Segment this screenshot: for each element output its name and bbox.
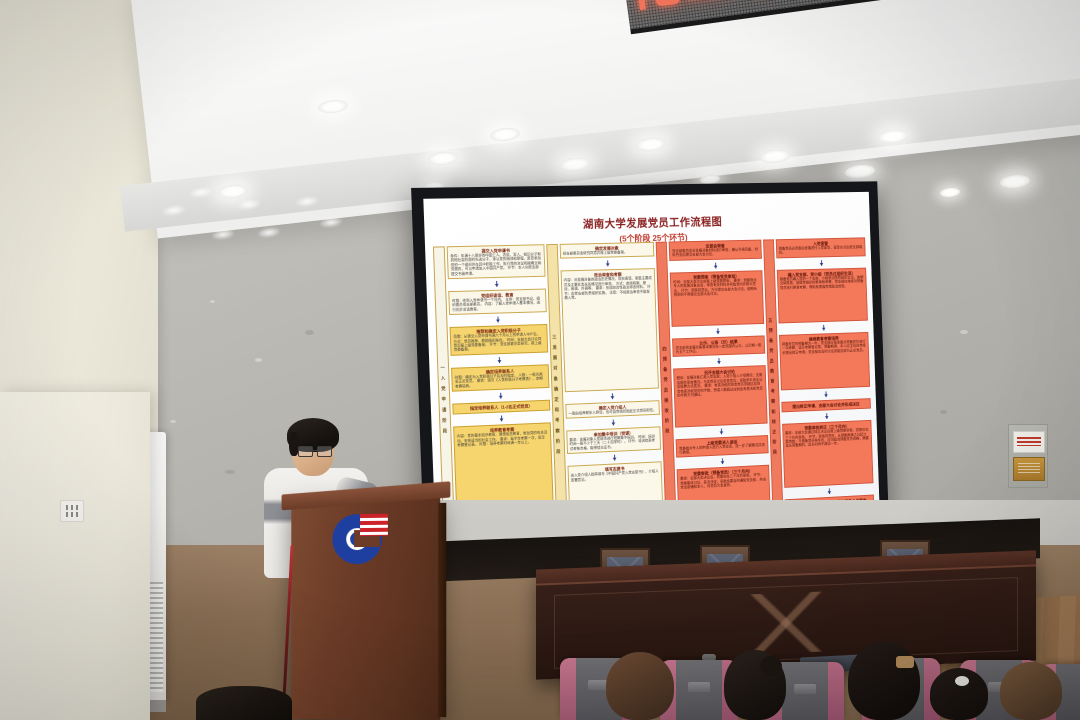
flowchart-column-4: 入党宣誓 预备党员必须面向党旗进行入党宣誓，宣誓仪式由党支部组织。 编入党支部、… [775, 237, 875, 531]
flow-box: 确定培养联系人 时限：确定为入党积极分子后及时指定。 人数：一般为两名正式党员。… [451, 364, 549, 392]
flow-box: 上级党委派人谈话 党委指派专人同申请人进行入党谈话，进一步了解情况并进行教育。 [676, 435, 769, 458]
flow-box: 确定入党介绍人 一般由培养联系人担任，也可由党组织指定正式党员担任。 [565, 400, 660, 419]
flow-box: 党委审批转正（三个月内） 要求：支部大会通过转正决议后报上级党委审批。党委应在三… [782, 420, 874, 488]
lecture-hall-photo: 化工学院2022级 湖南大学发展党员工作流程图 (5个阶段 25个环节) 一 入… [0, 0, 1080, 720]
flow-arrow [452, 391, 549, 401]
flow-box: 确定发展对象 经支部委员会研究同意并报上级党委备案。 [559, 242, 654, 259]
flow-box: 继续教育考察培养 预备党员的预备期为一年。党支部应每季度对预备党员进行一次考察，… [779, 332, 871, 391]
flow-arrow [449, 315, 546, 324]
plaque-upper-panel [1013, 431, 1045, 453]
flow-arrow [669, 261, 761, 269]
hair-bun [760, 656, 782, 676]
flow-box-body: 党支部委员会对发展对象材料进行审查，确认手续完备、材料齐全后提交支部大会讨论。 [672, 247, 758, 257]
flow-box: 召开支部大会讨论 程序：发展对象汇报入党志愿；入党介绍人介绍情况；支委会报告审查… [673, 366, 767, 428]
flow-box-body: 预备党员必须面向党旗进行入党宣誓，宣誓仪式由党支部组织。 [779, 245, 863, 255]
flow-box-body: 要求：发展对象入党前须进行短期集中培训。 时间：培训时间一般不少于三天（二十四学… [569, 434, 657, 451]
flow-box-title: 提出转正申请、支部大会讨论并形成决议 [784, 401, 868, 409]
flow-box-body: 要求：支部大会通过转正决议后报上级党委审批。党委应在三个月内审批。 环节：审批同… [785, 428, 869, 449]
flow-arrow [781, 390, 871, 399]
eyeglasses [298, 446, 331, 456]
hair-tie [955, 676, 969, 686]
flow-arrow [560, 260, 655, 268]
flowchart-column-2: 确定发展对象 经支部委员会研究同意并报上级党委备案。 政治审查和考察 内容：对发… [559, 242, 664, 544]
flow-box: 党委预审（预备党员审批） 时间：支部大会讨论前报上级党委预审。 要求：党委指派专… [670, 270, 764, 326]
cream-wall-lower [0, 392, 150, 720]
plaque-lower-panel [1013, 457, 1045, 481]
flow-box-body: 要求：支部大会决议后，党委应在三个月内审批。 环节：党委集体讨论、表决决定；审批… [680, 473, 766, 490]
flow-arrow [776, 259, 866, 267]
flowchart-column-3: 支部会审查 党支部委员会对发展对象材料进行审查，确认手续完备、材料齐全后提交支部… [669, 240, 771, 538]
flow-box: 推荐和确定入党积极分子 范围：从提交入党申请书满六个月以上的申请人中产生。 方式… [450, 324, 548, 356]
flow-box: 支部会审查 党支部委员会对发展对象材料进行审查，确认手续完备、材料齐全后提交支部… [669, 240, 762, 261]
flow-box-body: 预备党员编入党的一个支部、小组参加党的组织生活，按期交纳党费，接受党组织的教育和… [780, 275, 864, 290]
flow-box-body: 条件：年满十八周岁的中国工人、农民、军人、知识分子和其他社会阶层的先进分子，承认… [450, 252, 541, 276]
flow-box-title: 指定培养联系人（1-2名正式党员） [456, 403, 547, 412]
flow-box-body: 经支部委员会研究同意并报上级党委备案。 [563, 250, 651, 256]
flow-box: 提交入党申请书 条件：年满十八周岁的中国工人、农民、军人、知识分子和其他社会阶层… [447, 244, 545, 279]
flow-arrow [673, 357, 765, 366]
flow-arrow [778, 323, 868, 332]
flow-box: 党组织谈话、教育 时限：收到入党申请书一个月内。 主体：党支部书记、组织委员或支… [448, 289, 546, 316]
flow-box-body: 内容：对发展对象的政治历史情况、现实表现、家庭主要成员及主要社会关系情况进行审查… [564, 276, 653, 300]
podium-side-edge [438, 503, 446, 717]
flow-arrow [565, 391, 660, 401]
flow-box: 公示、公告（示）结果 党支部将发展对象基本情况在一定范围内公示，公示期一般为五个… [672, 335, 765, 357]
flow-box: 提出转正申请、支部大会讨论并形成决议 [781, 398, 871, 412]
flow-box: 指定培养联系人（1-2名正式党员） [452, 400, 549, 415]
podium [291, 497, 440, 720]
hunan-university-emblem [332, 510, 388, 567]
flow-box-body: 预备党员的预备期为一年。党支部应每季度对预备党员进行一次考察，填写考察登记表。预… [782, 340, 866, 355]
flow-box-body: 党支部将发展对象基本情况在一定范围内公示，公示期一般为五个工作日。 [676, 343, 762, 354]
flow-box-body: 时限：确定为入党积极分子后及时指定。 人数：一般为两名正式党员。 要求：填写《入… [455, 372, 546, 388]
audience-head [606, 652, 674, 720]
flow-box-body: 程序：发展对象汇报入党志愿；入党介绍人介绍情况；支委会报告审查情况；与会党员讨论… [677, 373, 763, 398]
flow-arrow [451, 355, 548, 364]
audience-head [196, 686, 292, 720]
flow-box-body: 范围：从提交入党申请书满六个月以上的申请人中产生。 方式：党员推荐、群团组织推优… [453, 332, 544, 352]
flow-box-body: 内容：党的基本知识教育、理想信念教育，参加党的有关活动，安排适当的社会工作。 要… [457, 430, 548, 447]
flow-box: 参加集中培训（党课） 要求：发展对象入党前须进行短期集中培训。 时间：培训时间一… [566, 426, 661, 454]
wall-power-outlet [60, 500, 84, 522]
flow-box-body: 时间：支部大会讨论前报上级党委预审。 要求：党委指派专人同发展对象谈话，审查有关… [673, 278, 759, 297]
hair-clip [896, 656, 914, 668]
flow-arrow [448, 280, 545, 288]
wall-plaque [1008, 424, 1048, 488]
audience-head [1000, 662, 1062, 720]
flow-box: 编入党支部、党小组（党员过组织生活） 预备党员编入党的一个支部、小组参加党的组织… [776, 267, 868, 323]
flow-box-body: 时限：收到入党申请书一个月内。 主体：党支部书记、组织委员或支部委员。 内容：了… [452, 297, 543, 313]
audience-head [848, 642, 920, 720]
flow-arrow [672, 326, 764, 335]
flow-box: 入党宣誓 预备党员必须面向党旗进行入党宣誓，宣誓仪式由党支部组织。 [775, 237, 865, 258]
flow-box: 政治审查和考察 内容：对发展对象的政治历史情况、现实表现、家庭主要成员及主要社会… [560, 268, 659, 391]
